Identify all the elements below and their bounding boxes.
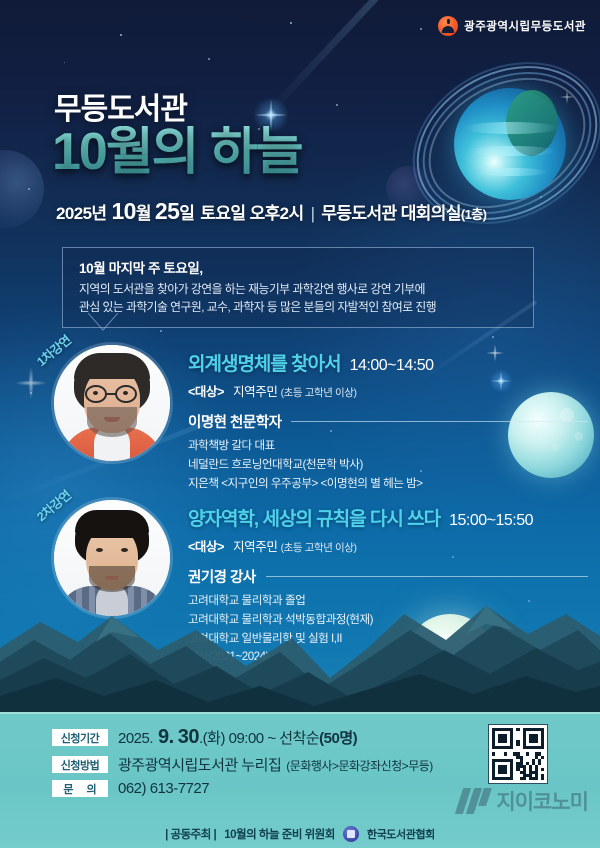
association-logo-icon: [343, 826, 359, 842]
organizer-name: 10월의 하늘 준비 위원회: [224, 826, 335, 842]
venue-floor: (1층): [461, 204, 486, 223]
footer-panel: 신청기간 2025. 9. 30 .(화) 09:00 ~ 선착순 (50명) …: [0, 712, 600, 848]
target-value-2: 지역주민: [233, 540, 277, 554]
speaker-name-1: 이명현 천문학자: [188, 411, 281, 432]
cohost-label: | 공동주최 |: [165, 826, 216, 842]
bio-line: 네덜란드 흐로닝언대학교(천문학 박사): [188, 456, 588, 475]
registration-row-period: 신청기간 2025. 9. 30 .(화) 09:00 ~ 선착순 (50명): [52, 726, 433, 749]
target-value-1: 지역주민: [233, 385, 277, 399]
lecture-target-1: <대상> 지역주민 (초등 고학년 이상): [188, 381, 588, 400]
star: [160, 330, 162, 332]
target-label-2: <대상>: [188, 540, 224, 554]
registration-row-contact: 문 의 062) 613-7727: [52, 780, 433, 797]
association-name: 한국도서관협회: [367, 826, 435, 842]
speaker-avatar-1: [54, 345, 170, 461]
poster-subtitle: 무등도서관: [54, 84, 187, 128]
reg-count: (50명): [319, 727, 357, 748]
date-month: 10: [111, 198, 135, 225]
reg-suffix: .(화) 09:00 ~ 선착순: [199, 727, 319, 748]
speaker-rule-1: [291, 421, 588, 422]
speaker-row-2: 권기경 강사: [188, 566, 588, 587]
description-line-2: 관심 있는 과학기술 연구원, 교수, 과학자 등 많은 분들의 자발적인 참여…: [79, 298, 519, 316]
faint-planet-left: [0, 150, 44, 228]
description-box: 10월 마지막 주 토요일, 지역의 도서관을 찾아가 강연을 하는 재능기부 …: [62, 247, 534, 328]
registration-info: 신청기간 2025. 9. 30 .(화) 09:00 ~ 선착순 (50명) …: [52, 726, 433, 802]
date-weekday-time: 토요일 오후2시: [200, 199, 303, 224]
star: [28, 188, 30, 190]
planet-body: [454, 88, 566, 200]
footer-credits: | 공동주최 | 10월의 하늘 준비 위원회 한국도서관협회: [0, 826, 600, 842]
lecture-time-1: 14:00~14:50: [350, 357, 434, 375]
reg-year: 2025.: [118, 730, 153, 747]
date-year: 2025년: [56, 199, 106, 224]
speaker-name-2: 권기경 강사: [188, 566, 256, 587]
lecture-target-2: <대상> 지역주민 (초등 고학년 이상): [188, 536, 588, 555]
reg-site: 광주광역시립도서관 누리집: [118, 754, 281, 775]
library-logo-text: 광주광역시립무등도서관: [464, 18, 586, 34]
registration-label-method: 신청방법: [52, 756, 108, 773]
lecture-time-2: 15:00~15:50: [449, 512, 533, 530]
target-note-2: (초등 고학년 이상): [281, 542, 357, 554]
description-line-1: 지역의 도서관을 찾아가 강연을 하는 재능기부 과학강연 행사로 강연 기부에: [79, 280, 519, 298]
date-day: 25: [155, 198, 179, 225]
bio-line: 과학책방 갈다 대표: [188, 437, 588, 456]
reg-day: 30: [178, 726, 199, 749]
reg-month: 9.: [158, 726, 174, 749]
qr-code-grid: [492, 728, 544, 780]
bio-line: 지은책 <지구인의 우주공부> <이명현의 별 헤는 밤>: [188, 475, 588, 494]
qr-code[interactable]: [488, 724, 548, 784]
poster: 광주광역시립무등도서관 무등도서관 10월의 하늘 2025년 10 월 25 …: [0, 0, 600, 848]
registration-label-contact: 문 의: [52, 780, 108, 797]
star: [290, 22, 292, 24]
description-heading: 10월 마지막 주 토요일,: [79, 257, 519, 277]
star: [120, 34, 122, 36]
description-callout-tail: [88, 313, 118, 331]
lecture-title-2: 양자역학, 세상의 규칙을 다시 쓰다: [188, 504, 440, 531]
date-venue-bar: 2025년 10 월 25 일 토요일 오후2시 | 무등도서관 대회의실 (1…: [56, 198, 486, 225]
watermark-text: 지이코노미: [496, 786, 588, 816]
star: [208, 58, 210, 60]
venue-name: 무등도서관 대회의실: [321, 199, 460, 224]
footer-divider: [0, 712, 600, 714]
lecture-text-1: 외계생명체를 찾아서 14:00~14:50 <대상> 지역주민 (초등 고학년…: [188, 349, 588, 493]
registration-value-period: 2025. 9. 30 .(화) 09:00 ~ 선착순 (50명): [118, 726, 357, 749]
date-day-unit: 일: [179, 199, 194, 224]
speaker-rule-2: [266, 576, 588, 577]
star: [64, 62, 65, 63]
lecture-title-1: 외계생명체를 찾아서: [188, 349, 341, 376]
library-logo: 광주광역시립무등도서관: [438, 16, 586, 36]
star: [492, 336, 494, 338]
star: [336, 104, 338, 106]
date-separator: |: [311, 204, 315, 224]
watermark: 지이코노미: [459, 786, 588, 816]
reg-path: (문화행사>문화강좌신청>무등): [286, 757, 433, 774]
target-label-1: <대상>: [188, 385, 224, 399]
registration-row-method: 신청방법 광주광역시립도서관 누리집 (문화행사>문화강좌신청>무등): [52, 754, 433, 775]
library-logo-icon: [438, 16, 458, 36]
registration-value-contact: 062) 613-7727: [118, 780, 209, 797]
date-month-unit: 월: [136, 199, 151, 224]
watermark-icon: [459, 788, 491, 814]
target-note-1: (초등 고학년 이상): [281, 387, 357, 399]
speaker-row-1: 이명현 천문학자: [188, 411, 588, 432]
registration-value-method: 광주광역시립도서관 누리집 (문화행사>문화강좌신청>무등): [118, 754, 433, 775]
mountain-range: [0, 592, 600, 712]
speaker-bio-1: 과학책방 갈다 대표 네덜란드 흐로닝언대학교(천문학 박사) 지은책 <지구인…: [188, 437, 588, 493]
star: [420, 28, 422, 30]
poster-title: 10월의 하늘: [52, 126, 302, 178]
registration-label-period: 신청기간: [52, 729, 108, 746]
